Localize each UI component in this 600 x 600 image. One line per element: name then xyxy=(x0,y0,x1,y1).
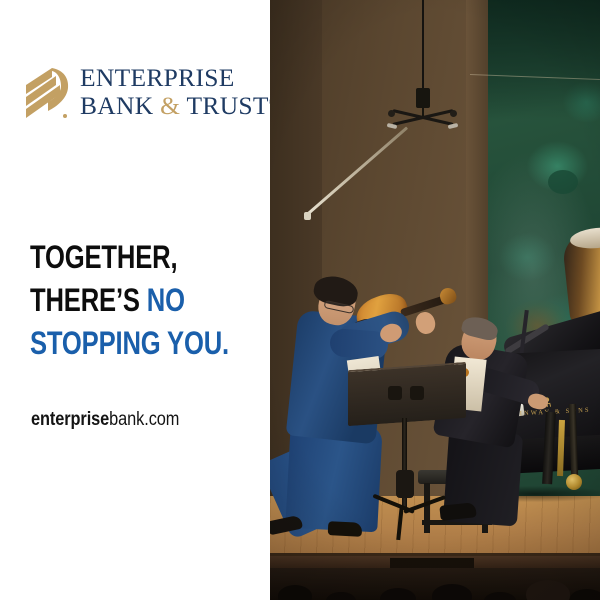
tagline: TOGETHER, THERE’S NO STOPPING YOU. xyxy=(30,236,260,365)
concert-photo: ⚗ STEINWAY & SONS xyxy=(270,0,600,600)
audience-head xyxy=(570,589,600,600)
left-brand-panel: ENTERPRISE BANK & TRUST® TOGETHER, THERE… xyxy=(0,0,270,600)
url-weak-part: bank.com xyxy=(109,409,179,430)
music-stand-clip-left xyxy=(388,386,402,400)
enterprise-bank-display-ad: ENTERPRISE BANK & TRUST® TOGETHER, THERE… xyxy=(0,0,600,600)
brand-logo-ampersand: & xyxy=(160,91,180,120)
violinist-shoe-right xyxy=(328,521,363,537)
tagline-line-3: STOPPING YOU. xyxy=(30,322,214,365)
tagline-line-2-plain: THERE’S xyxy=(30,282,147,318)
brand-logo[interactable]: ENTERPRISE BANK & TRUST® xyxy=(22,62,275,124)
microphone-joint-right xyxy=(450,110,457,117)
tagline-line-1: TOGETHER, xyxy=(30,236,214,279)
audience-head xyxy=(278,585,312,600)
music-stand-clip-right xyxy=(410,386,424,400)
music-stand-height-lock xyxy=(396,470,414,498)
brand-logo-bank: BANK xyxy=(80,91,153,120)
audience-head xyxy=(526,580,570,600)
tagline-line-2: THERE’S NO xyxy=(30,279,214,322)
microphone-mount-box xyxy=(416,88,430,108)
mural-dark-foliage xyxy=(488,0,600,120)
enterprise-logomark-icon xyxy=(22,66,70,124)
mural-dark-bloom xyxy=(548,170,578,194)
microphone-joint-left xyxy=(388,110,395,117)
violin-bow-tip xyxy=(304,212,311,220)
microphone-cable xyxy=(422,0,424,90)
tagline-line-2-highlight: NO xyxy=(147,282,185,318)
piano-brass-caster-rear xyxy=(566,474,582,490)
url-strong-part: enterprise xyxy=(31,409,109,430)
website-url[interactable]: enterprisebank.com xyxy=(31,409,179,431)
brand-logo-wordmark: ENTERPRISE BANK & TRUST® xyxy=(80,62,275,119)
brand-logo-trust: TRUST xyxy=(187,91,269,120)
piano-bench-leg-left xyxy=(424,483,430,533)
brand-logo-line-bank-and-trust: BANK & TRUST® xyxy=(80,92,275,119)
music-stand-desk xyxy=(348,362,466,426)
brand-logo-line-enterprise: ENTERPRISE xyxy=(80,64,275,91)
